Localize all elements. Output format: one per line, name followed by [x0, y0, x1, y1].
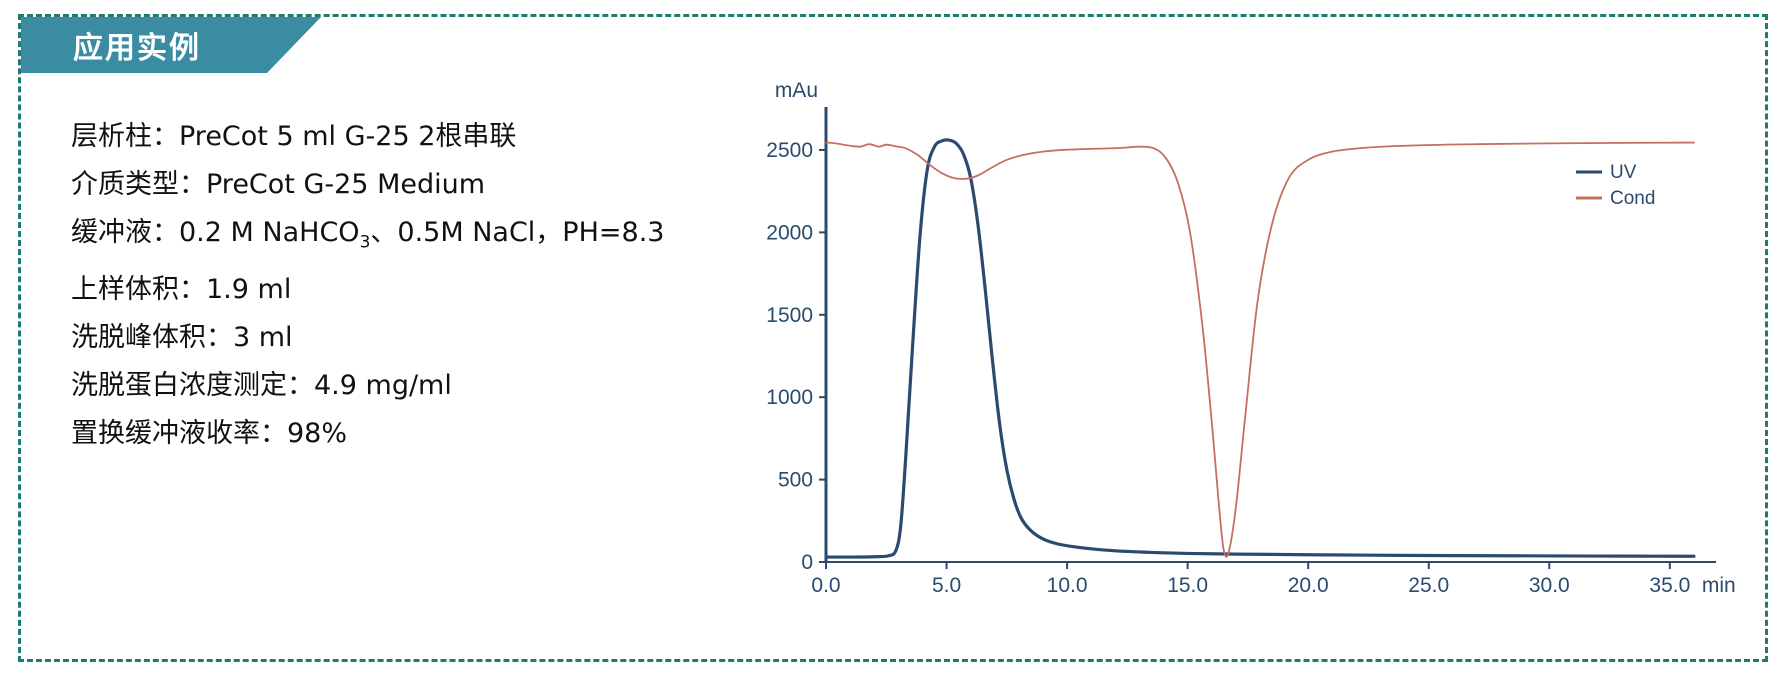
x-tick-label: 30.0 — [1529, 574, 1570, 597]
x-tick-label: 20.0 — [1288, 574, 1329, 597]
x-tick-label: 15.0 — [1167, 574, 1208, 597]
chromatogram-svg: mAu050010001500200025000.05.010.015.020.… — [731, 72, 1751, 632]
series-line-cond — [826, 143, 1694, 557]
chart-series — [826, 140, 1694, 557]
spec-line-medium-type: 介质类型：PreCot G-25 Medium — [71, 161, 731, 209]
x-tick-label: 5.0 — [932, 574, 961, 597]
spec-buffer-prefix: 缓冲液：0.2 M NaHCO — [71, 217, 360, 248]
y-axis-title: mAu — [775, 79, 818, 102]
spec-buffer-suffix: 、0.5M NaCl，PH=8.3 — [370, 217, 664, 248]
specification-list: 层析柱：PreCot 5 ml G-25 2根串联 介质类型：PreCot G-… — [71, 113, 731, 458]
spec-line-buffer: 缓冲液：0.2 M NaHCO3、0.5M NaCl，PH=8.3 — [71, 209, 731, 266]
legend-label-cond: Cond — [1610, 188, 1655, 209]
chart-legend: UVCond — [1576, 162, 1655, 209]
y-tick-label: 2000 — [766, 221, 813, 244]
spec-buffer-subscript: 3 — [360, 232, 371, 252]
x-tick-label: 0.0 — [811, 574, 840, 597]
legend-label-uv: UV — [1610, 162, 1637, 183]
y-tick-label: 1500 — [766, 304, 813, 327]
spec-line-column: 层析柱：PreCot 5 ml G-25 2根串联 — [71, 113, 731, 161]
y-tick-label: 0 — [801, 551, 813, 574]
spec-line-buffer-exchange-yield: 置换缓冲液收率：98% — [71, 410, 731, 458]
series-line-uv — [826, 140, 1694, 557]
x-tick-label: 35.0 — [1649, 574, 1690, 597]
y-tick-label: 1000 — [766, 386, 813, 409]
y-tick-label: 2500 — [766, 139, 813, 162]
x-tick-label: 25.0 — [1408, 574, 1449, 597]
spec-line-sample-volume: 上样体积：1.9 ml — [71, 266, 731, 314]
application-example-card: 应用实例 层析柱：PreCot 5 ml G-25 2根串联 介质类型：PreC… — [18, 14, 1768, 662]
banner-title: 应用实例 — [73, 23, 201, 67]
spec-line-elution-peak-volume: 洗脱峰体积：3 ml — [71, 314, 731, 362]
section-banner: 应用实例 — [21, 17, 321, 73]
spec-line-protein-concentration: 洗脱蛋白浓度测定：4.9 mg/ml — [71, 362, 731, 410]
chromatogram-chart: mAu050010001500200025000.05.010.015.020.… — [731, 72, 1751, 632]
x-axis-unit-label: min — [1702, 574, 1736, 597]
y-tick-label: 500 — [778, 469, 813, 492]
x-tick-label: 10.0 — [1047, 574, 1088, 597]
